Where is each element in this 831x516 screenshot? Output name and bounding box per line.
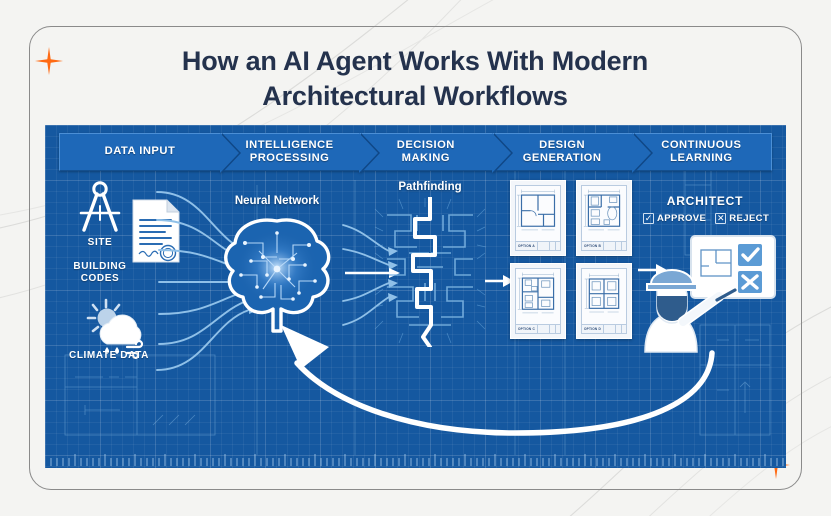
blueprint-diagram: DATA INPUT INTELLIGENCE PROCESSING DECIS… (45, 125, 786, 468)
page-title-line1: How an AI Agent Works With Modern (90, 44, 740, 79)
page-title-line2: Architectural Workflows (90, 79, 740, 114)
page-title: How an AI Agent Works With Modern Archit… (90, 44, 740, 113)
blueprint-ruler (45, 452, 786, 468)
feedback-loop-arrow (45, 125, 786, 468)
